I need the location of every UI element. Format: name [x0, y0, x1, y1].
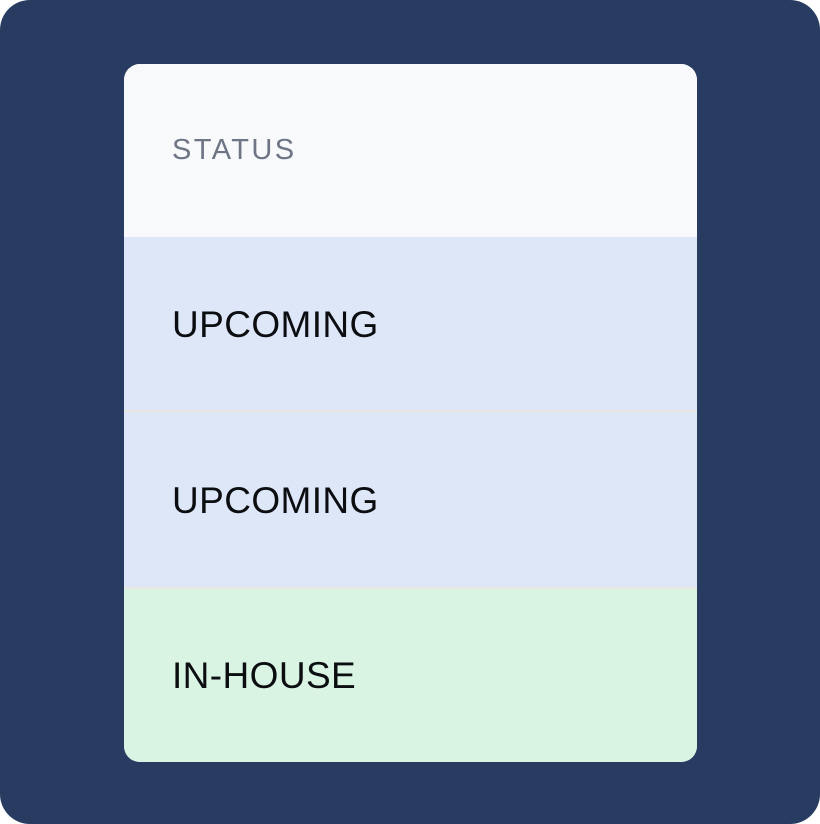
status-card: STATUS UPCOMING UPCOMING IN-HOUSE	[124, 64, 697, 762]
status-row-3-label: IN-HOUSE	[172, 657, 356, 694]
status-row-2[interactable]: UPCOMING	[124, 412, 697, 589]
status-column-header-label: STATUS	[172, 136, 297, 165]
status-row-1[interactable]: UPCOMING	[124, 237, 697, 412]
status-row-3[interactable]: IN-HOUSE	[124, 589, 697, 762]
status-column-header: STATUS	[124, 64, 697, 237]
app-background-panel: STATUS UPCOMING UPCOMING IN-HOUSE	[0, 0, 820, 824]
status-row-1-label: UPCOMING	[172, 306, 379, 343]
status-row-2-label: UPCOMING	[172, 482, 379, 519]
